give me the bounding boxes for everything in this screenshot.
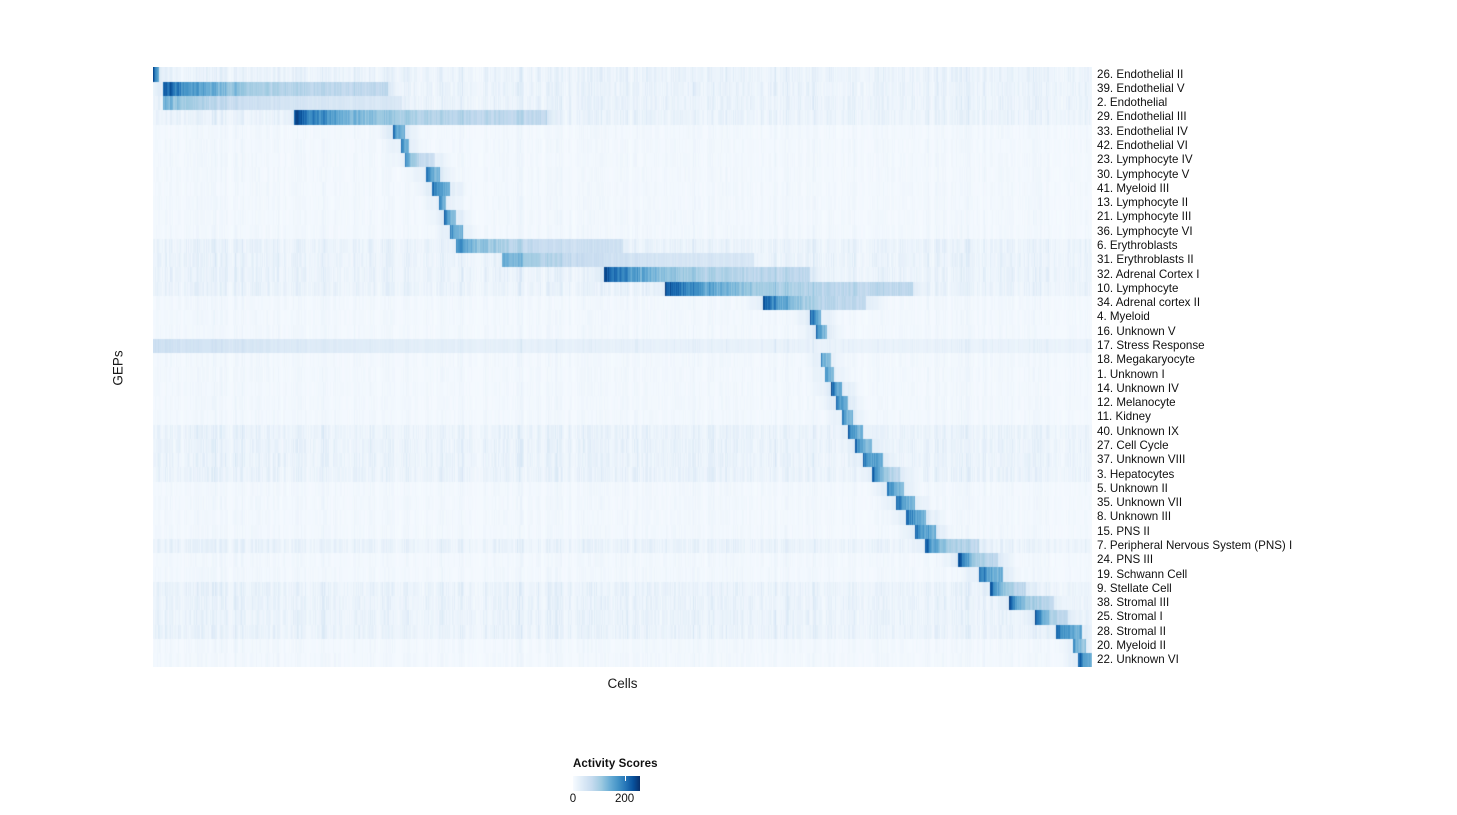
row-label: 35. Unknown VII — [1097, 497, 1182, 509]
row-label: 25. Stromal I — [1097, 611, 1163, 623]
row-label: 24. PNS III — [1097, 554, 1153, 566]
row-label: 6. Erythroblasts — [1097, 240, 1178, 252]
row-label: 16. Unknown V — [1097, 326, 1176, 338]
row-label: 15. PNS II — [1097, 526, 1150, 538]
row-label: 1. Unknown I — [1097, 369, 1165, 381]
row-label: 2. Endothelial — [1097, 97, 1167, 109]
row-label: 39. Endothelial V — [1097, 83, 1185, 95]
row-label: 12. Melanocyte — [1097, 397, 1176, 409]
colorbar-tick-label: 200 — [615, 793, 634, 805]
colorbar-legend: Activity Scores 0200 — [508, 758, 768, 809]
row-label: 42. Endothelial VI — [1097, 140, 1188, 152]
row-label: 9. Stellate Cell — [1097, 583, 1172, 595]
row-label: 21. Lymphocyte III — [1097, 211, 1191, 223]
row-label: 26. Endothelial II — [1097, 69, 1183, 81]
heatmap-canvas — [153, 67, 1092, 667]
row-label: 36. Lymphocyte VI — [1097, 226, 1193, 238]
row-label: 41. Myeloid III — [1097, 183, 1169, 195]
row-label: 3. Hepatocytes — [1097, 469, 1174, 481]
colorbar-tick — [625, 776, 626, 781]
row-label: 40. Unknown IX — [1097, 426, 1179, 438]
row-label: 17. Stress Response — [1097, 340, 1205, 352]
row-label: 33. Endothelial IV — [1097, 126, 1188, 138]
row-label: 7. Peripheral Nervous System (PNS) I — [1097, 540, 1292, 552]
row-label: 10. Lymphocyte — [1097, 283, 1178, 295]
row-label: 20. Myeloid II — [1097, 640, 1166, 652]
row-label: 13. Lymphocyte II — [1097, 197, 1188, 209]
heatmap-figure: GEPs Cells 26. Endothelial II39. Endothe… — [0, 0, 1457, 815]
row-label-list: 26. Endothelial II39. Endothelial V2. En… — [1097, 67, 1447, 667]
colorbar-title: Activity Scores — [508, 758, 768, 770]
colorbar-tick-label: 0 — [570, 793, 576, 805]
row-label: 27. Cell Cycle — [1097, 440, 1169, 452]
row-label: 22. Unknown VI — [1097, 654, 1179, 666]
row-label: 29. Endothelial III — [1097, 111, 1187, 123]
colorbar-tick-labels: 0200 — [508, 793, 768, 809]
row-label: 8. Unknown III — [1097, 511, 1171, 523]
row-label: 31. Erythroblasts II — [1097, 254, 1194, 266]
heatmap-plot-area — [153, 67, 1092, 667]
row-label: 38. Stromal III — [1097, 597, 1169, 609]
row-label: 4. Myeloid — [1097, 311, 1150, 323]
row-label: 11. Kidney — [1097, 411, 1151, 423]
row-label: 5. Unknown II — [1097, 483, 1168, 495]
row-label: 14. Unknown IV — [1097, 383, 1179, 395]
row-label: 19. Schwann Cell — [1097, 569, 1187, 581]
y-axis-title: GEPs — [111, 308, 126, 428]
row-label: 18. Megakaryocyte — [1097, 354, 1195, 366]
row-label: 23. Lymphocyte IV — [1097, 154, 1193, 166]
colorbar-bar-wrap — [508, 776, 768, 791]
row-label: 34. Adrenal cortex II — [1097, 297, 1200, 309]
row-label: 28. Stromal II — [1097, 626, 1166, 638]
row-label: 37. Unknown VIII — [1097, 454, 1185, 466]
x-axis-title: Cells — [153, 676, 1092, 691]
row-label: 30. Lymphocyte V — [1097, 169, 1189, 181]
colorbar-gradient — [573, 776, 640, 791]
row-label: 32. Adrenal Cortex I — [1097, 269, 1199, 281]
